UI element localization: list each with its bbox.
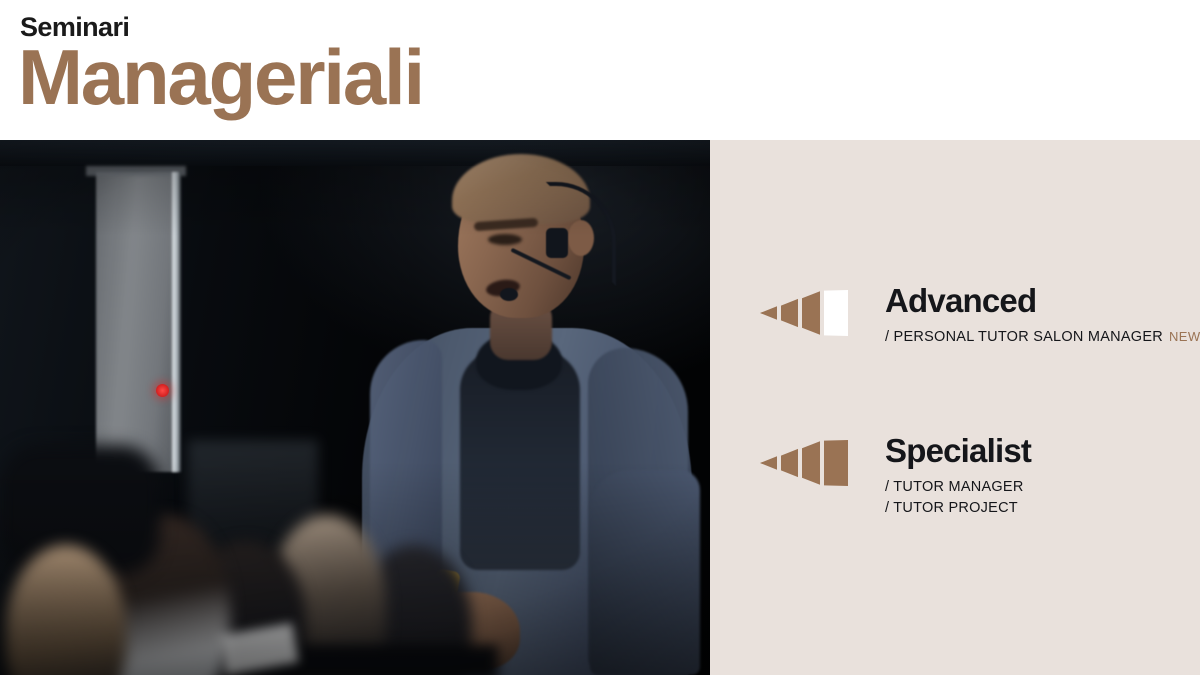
slide-header: Seminari Manageriali	[0, 0, 1200, 140]
audience-foreground	[0, 445, 470, 675]
page-title: Manageriali	[18, 38, 423, 116]
red-led-dot-icon	[156, 384, 169, 397]
course-list: / TUTOR MANAGER / TUTOR PROJECT	[885, 477, 1195, 519]
course-item-label: / TUTOR MANAGER	[885, 477, 1195, 498]
stage-pillar-highlight	[172, 172, 181, 472]
chevron-arrow-left-icon	[760, 290, 848, 336]
stage-pillar-top	[86, 166, 186, 176]
course-levels-panel: Advanced / PERSONAL TUTOR SALON MANAGERN…	[710, 140, 1200, 675]
course-level-advanced-text: Advanced / PERSONAL TUTOR SALON MANAGERN…	[885, 284, 1195, 348]
course-level-specialist-text: Specialist / TUTOR MANAGER / TUTOR PROJE…	[885, 434, 1195, 519]
course-item-label: / TUTOR PROJECT	[885, 498, 1195, 519]
slide-root: Seminari Manageriali	[0, 0, 1200, 675]
speaker-bracelet	[508, 634, 554, 647]
course-level-title: Specialist	[885, 434, 1195, 469]
course-level-title: Advanced	[885, 284, 1195, 319]
speaker-eye	[488, 234, 522, 245]
speaker-arm-right	[590, 470, 700, 675]
headset-earpad-icon	[546, 228, 568, 258]
course-item-label: / PERSONAL TUTOR SALON MANAGER	[885, 329, 1163, 345]
chevron-arrow-left-icon	[760, 440, 848, 486]
status-badge: NEW	[1169, 329, 1200, 344]
headset-mic-icon	[500, 288, 518, 301]
speaker-photo	[0, 140, 710, 675]
stage-pillar	[96, 172, 178, 472]
course-list: / PERSONAL TUTOR SALON MANAGERNEW	[885, 327, 1195, 348]
